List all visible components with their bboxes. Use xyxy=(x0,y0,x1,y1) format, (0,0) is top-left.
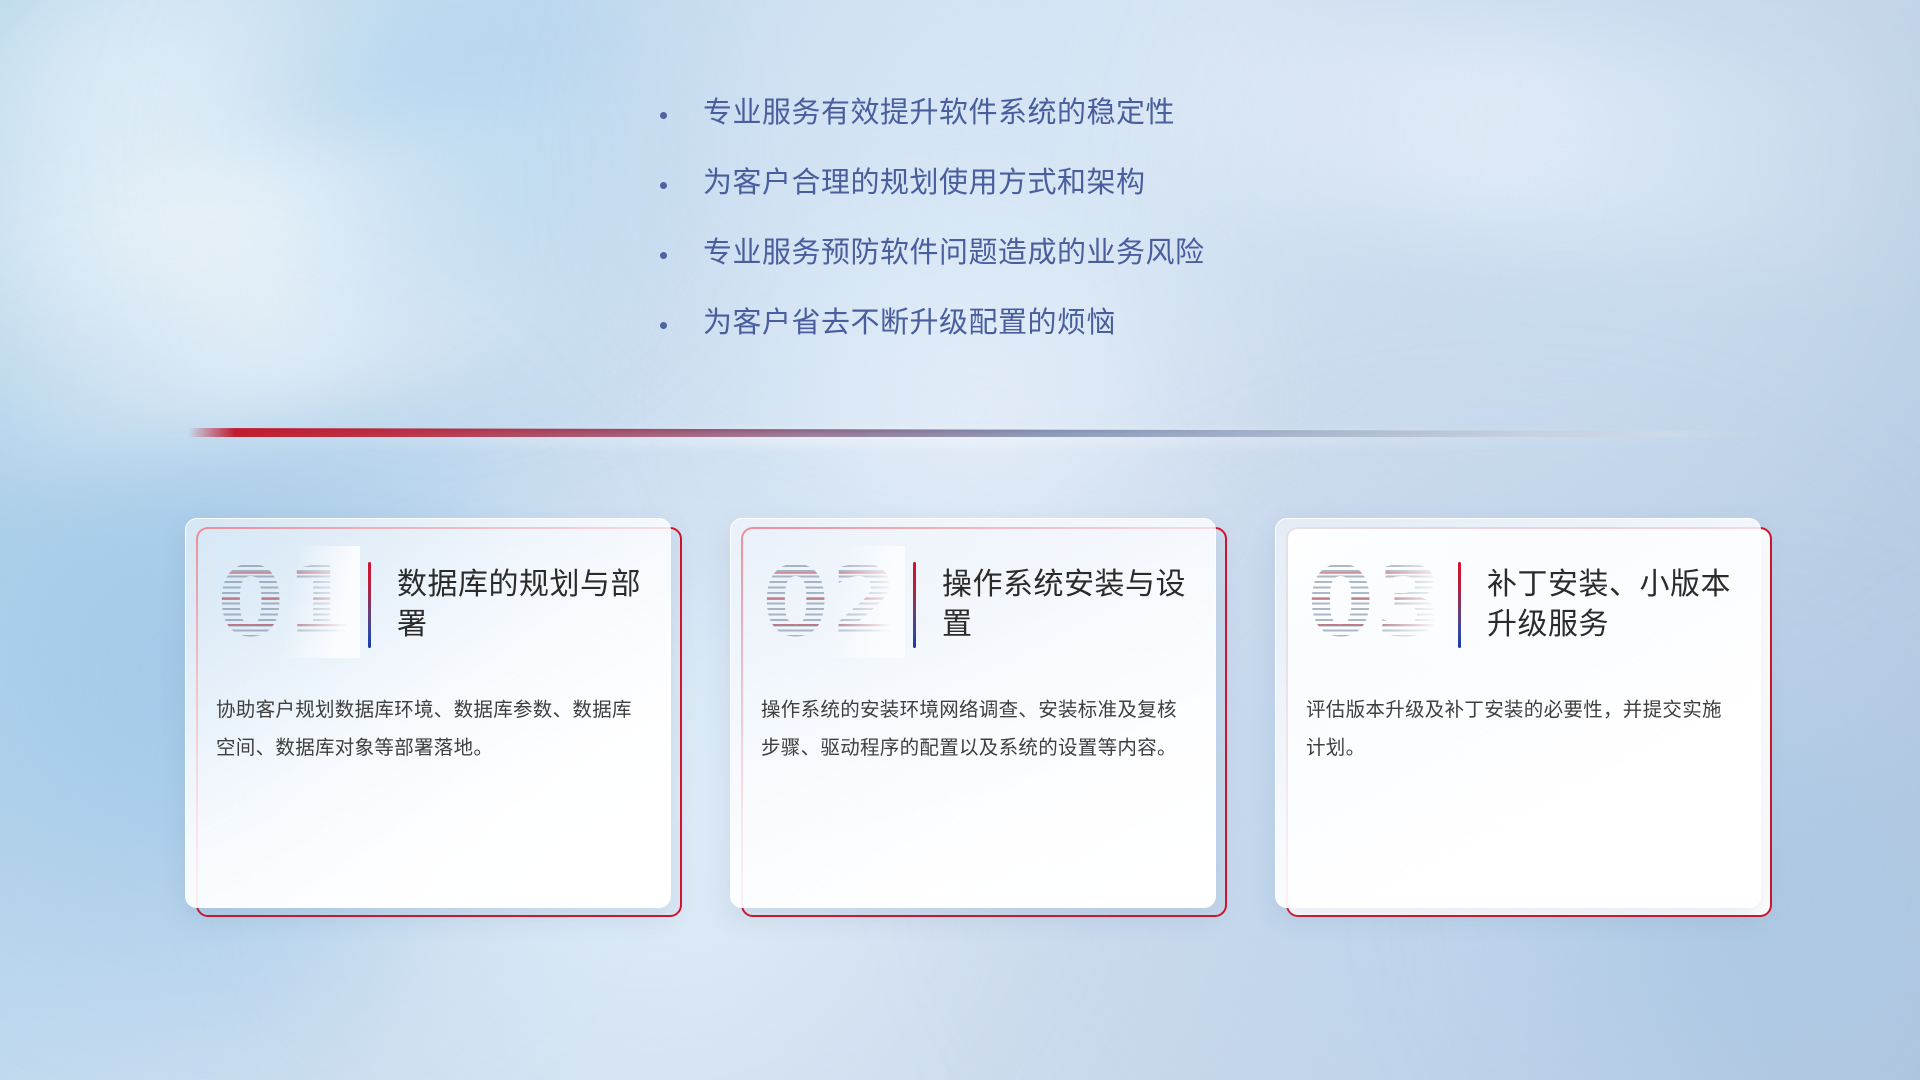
bullet-item: 专业服务有效提升软件系统的稳定性 xyxy=(660,95,1420,132)
card-header: 03 03 补丁安装、小版本升级服务 xyxy=(1276,519,1760,691)
card-title-divider xyxy=(913,562,916,648)
card-header: 01 01 数据库的规划与部署 xyxy=(186,519,670,691)
divider-glow xyxy=(188,432,1760,444)
card-title: 数据库的规划与部署 xyxy=(397,565,670,645)
card-surface: 01 01 数据库的规划与部署 协助客户规划数据库环境、数据库参数、数据库空间、… xyxy=(185,518,671,908)
card-body-text: 协助客户规划数据库环境、数据库参数、数据库空间、数据库对象等部署落地。 xyxy=(186,691,670,767)
bullet-item-label: 专业服务有效提升软件系统的稳定性 xyxy=(703,95,1175,132)
bullet-item-label: 专业服务预防软件问题造成的业务风险 xyxy=(703,235,1205,272)
bullet-item-label: 为客户合理的规划使用方式和架构 xyxy=(703,165,1146,202)
card-body-text: 评估版本升级及补丁安装的必要性，并提交实施计划。 xyxy=(1276,691,1760,767)
card-number-stripes-accent: 01 xyxy=(212,546,360,658)
benefits-bullet-list: 专业服务有效提升软件系统的稳定性 为客户合理的规划使用方式和架构 专业服务预防软… xyxy=(660,95,1420,375)
card-body-text: 操作系统的安装环境网络调查、安装标准及复核步骤、驱动程序的配置以及系统的设置等内… xyxy=(731,691,1215,767)
card-number-stripes-accent: 02 xyxy=(757,546,905,658)
service-cards: 01 01 数据库的规划与部署 协助客户规划数据库环境、数据库参数、数据库空间、… xyxy=(185,518,1745,938)
service-card-03[interactable]: 03 03 补丁安装、小版本升级服务 评估版本升级及补丁安装的必要性，并提交实施… xyxy=(1275,518,1761,908)
bullet-item: 为客户省去不断升级配置的烦恼 xyxy=(660,305,1420,342)
bullet-item-label: 为客户省去不断升级配置的烦恼 xyxy=(703,305,1116,342)
card-title-divider xyxy=(1458,562,1461,648)
service-card-01[interactable]: 01 01 数据库的规划与部署 协助客户规划数据库环境、数据库参数、数据库空间、… xyxy=(185,518,671,908)
card-title: 补丁安装、小版本升级服务 xyxy=(1487,565,1760,645)
card-surface: 03 03 补丁安装、小版本升级服务 评估版本升级及补丁安装的必要性，并提交实施… xyxy=(1275,518,1761,908)
card-title-divider xyxy=(368,562,371,648)
bullet-dot-icon xyxy=(660,112,667,119)
bullet-dot-icon xyxy=(660,182,667,189)
bullet-item: 为客户合理的规划使用方式和架构 xyxy=(660,165,1420,202)
card-number-graphic: 03 03 xyxy=(1302,546,1450,658)
card-header: 02 02 操作系统安装与设置 xyxy=(731,519,1215,691)
bullet-item: 专业服务预防软件问题造成的业务风险 xyxy=(660,235,1420,272)
section-divider xyxy=(188,428,1760,437)
card-surface: 02 02 操作系统安装与设置 操作系统的安装环境网络调查、安装标准及复核步骤、… xyxy=(730,518,1216,908)
card-number-stripes-accent: 03 xyxy=(1302,546,1450,658)
service-card-02[interactable]: 02 02 操作系统安装与设置 操作系统的安装环境网络调查、安装标准及复核步骤、… xyxy=(730,518,1216,908)
bullet-dot-icon xyxy=(660,322,667,329)
bullet-dot-icon xyxy=(660,252,667,259)
card-title: 操作系统安装与设置 xyxy=(942,565,1215,645)
card-number-graphic: 01 01 xyxy=(212,546,360,658)
card-number-graphic: 02 02 xyxy=(757,546,905,658)
